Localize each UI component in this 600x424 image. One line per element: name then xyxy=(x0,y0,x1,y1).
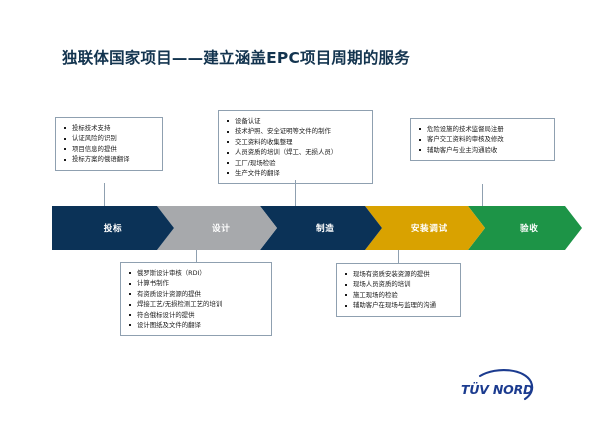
process-step-label: 验收 xyxy=(520,222,538,234)
connector-line-manufacturing xyxy=(295,180,296,206)
list-item: 工厂/现场检验 xyxy=(226,158,366,168)
process-step-1[interactable]: 投标 xyxy=(52,206,174,250)
process-step-3[interactable]: 制造 xyxy=(260,206,382,250)
tuv-nord-logo: TÜV NORD xyxy=(455,368,555,406)
list-item: 辅助客户与业主沟通验收 xyxy=(418,145,548,155)
callout-design-list: 俄罗斯设计审核（RDI） 计算书制作 有资质设计资源的提供 焊接工艺/无损检测工… xyxy=(128,268,265,330)
list-item: 符合俄标设计的提供 xyxy=(128,310,265,320)
list-item: 计算书制作 xyxy=(128,278,265,288)
connector-line-design xyxy=(196,250,197,262)
list-item: 认证风险的识别 xyxy=(63,133,156,143)
list-item: 技术护照、安全证明等文件的制作 xyxy=(226,126,366,136)
callout-manufacturing: 设备认证 技术护照、安全证明等文件的制作 交工资料的收集整理 人员资质的培训（焊… xyxy=(218,110,373,184)
list-item: 焊接工艺/无损检测工艺的培训 xyxy=(128,299,265,309)
list-item: 现场人员资质的培训 xyxy=(344,279,454,289)
list-item: 生产文件的翻译 xyxy=(226,168,366,178)
connector-line-acceptance xyxy=(482,184,483,206)
list-item: 危险设施的技术监督局注册 xyxy=(418,124,548,134)
list-item: 交工资料的收集整理 xyxy=(226,137,366,147)
callout-bid-list: 投标技术支持 认证风险的识别 项目信息的提供 投标方案的俄语翻译 xyxy=(63,123,156,165)
list-item: 设备认证 xyxy=(226,116,366,126)
list-item: 项目信息的提供 xyxy=(63,144,156,154)
list-item: 有资质设计资源的提供 xyxy=(128,289,265,299)
callout-installation: 现场有资质安装资源的提供 现场人员资质的培训 施工现场的检验 辅助客户在现场与监… xyxy=(336,263,461,317)
callout-acceptance: 危险设施的技术监督局注册 客户交工资料的审核及修改 辅助客户与业主沟通验收 xyxy=(410,118,555,161)
list-item: 设计图纸及文件的翻译 xyxy=(128,320,265,330)
logo-wordmark: TÜV NORD xyxy=(461,382,533,397)
page-title: 独联体国家项目——建立涵盖EPC项目周期的服务 xyxy=(62,46,410,68)
list-item: 辅助客户在现场与监理的沟通 xyxy=(344,300,454,310)
callout-bid: 投标技术支持 认证风险的识别 项目信息的提供 投标方案的俄语翻译 xyxy=(55,117,163,171)
callout-design: 俄罗斯设计审核（RDI） 计算书制作 有资质设计资源的提供 焊接工艺/无损检测工… xyxy=(120,262,272,336)
callout-acceptance-list: 危险设施的技术监督局注册 客户交工资料的审核及修改 辅助客户与业主沟通验收 xyxy=(418,124,548,155)
list-item: 现场有资质安装资源的提供 xyxy=(344,269,454,279)
callout-manufacturing-list: 设备认证 技术护照、安全证明等文件的制作 交工资料的收集整理 人员资质的培训（焊… xyxy=(226,116,366,178)
list-item: 投标技术支持 xyxy=(63,123,156,133)
callout-installation-list: 现场有资质安装资源的提供 现场人员资质的培训 施工现场的检验 辅助客户在现场与监… xyxy=(344,269,454,311)
connector-line-installation xyxy=(398,250,399,263)
list-item: 俄罗斯设计审核（RDI） xyxy=(128,268,265,278)
process-step-label: 投标 xyxy=(104,222,122,234)
process-step-4[interactable]: 安装调试 xyxy=(365,206,485,250)
process-chevron-band: 投标设计制造安装调试验收 xyxy=(52,206,548,250)
list-item: 施工现场的检验 xyxy=(344,290,454,300)
slide-canvas: 独联体国家项目——建立涵盖EPC项目周期的服务 投标技术支持 认证风险的识别 项… xyxy=(0,0,600,424)
process-step-label: 设计 xyxy=(212,222,230,234)
connector-line-bid xyxy=(104,183,105,206)
process-step-5[interactable]: 验收 xyxy=(468,206,582,250)
process-step-label: 制造 xyxy=(316,222,334,234)
process-step-2[interactable]: 设计 xyxy=(157,206,277,250)
list-item: 投标方案的俄语翻译 xyxy=(63,154,156,164)
list-item: 客户交工资料的审核及修改 xyxy=(418,134,548,144)
process-step-label: 安装调试 xyxy=(411,222,448,234)
list-item: 人员资质的培训（焊工、无损人员） xyxy=(226,147,366,157)
